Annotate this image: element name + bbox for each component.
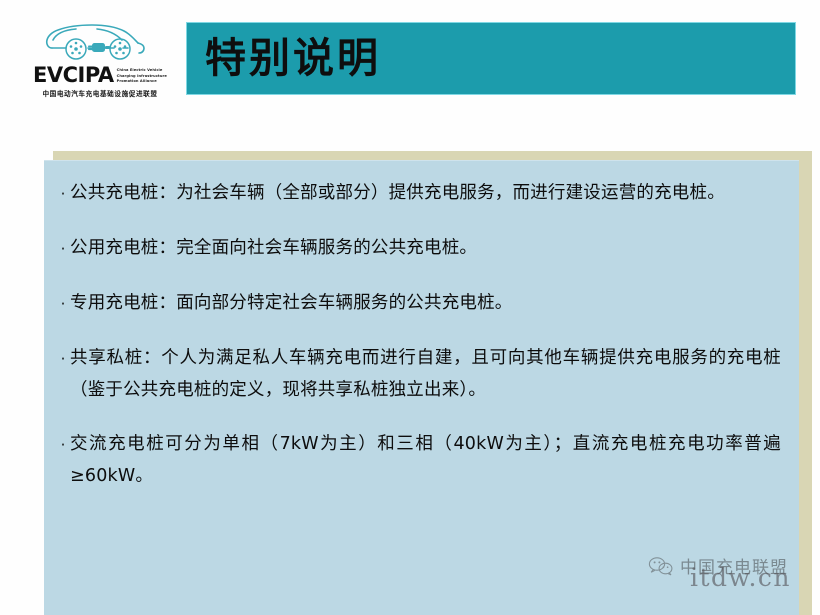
list-item: · 专用充电桩：面向部分特定社会车辆服务的公共充电桩。: [56, 287, 785, 320]
logo-english-tagline: China Electric Vehicle Charging Infrastr…: [117, 68, 167, 86]
bullet-text: 公共充电桩：为社会车辆（全部或部分）提供充电服务，而进行建设运营的充电桩。: [70, 177, 785, 209]
bullet-text: 共享私桩：个人为满足私人车辆充电而进行自建，且可向其他车辆提供充电服务的充电桩（…: [70, 342, 785, 406]
bullet-marker-icon: ·: [56, 178, 70, 210]
evcipa-logo: EVCIPA China Electric Vehicle Charging I…: [22, 18, 178, 98]
bullet-marker-icon: ·: [56, 288, 70, 320]
bullet-marker-icon: ·: [56, 343, 70, 375]
title-banner: 特别说明: [186, 22, 796, 95]
wechat-icon: [648, 556, 674, 576]
list-item: · 交流充电桩可分为单相（7kW为主）和三相（40kW为主）；直流充电桩充电功率…: [56, 428, 785, 492]
bullet-marker-icon: ·: [56, 233, 70, 265]
logo-wordmark: EVCIPA: [33, 65, 114, 86]
logo-wordmark-row: EVCIPA China Electric Vehicle Charging I…: [22, 65, 178, 86]
bullet-text: 交流充电桩可分为单相（7kW为主）和三相（40kW为主）；直流充电桩充电功率普遍…: [70, 428, 785, 492]
bullet-marker-icon: ·: [56, 429, 70, 461]
logo-english-line-3: Promotion Alliance: [117, 79, 167, 84]
slide-header: EVCIPA China Electric Vehicle Charging I…: [0, 0, 820, 128]
list-item: · 公用充电桩：完全面向社会车辆服务的公共充电桩。: [56, 232, 785, 265]
ev-charging-car-logo-icon: [22, 18, 178, 64]
bullet-text: 专用充电桩：面向部分特定社会车辆服务的公共充电桩。: [70, 287, 785, 319]
content-panel: · 公共充电桩：为社会车辆（全部或部分）提供充电服务，而进行建设运营的充电桩。 …: [44, 160, 799, 615]
site-watermark: itdw.cn: [690, 563, 791, 592]
bullet-text: 公用充电桩：完全面向社会车辆服务的公共充电桩。: [70, 232, 785, 264]
bullet-list: · 公共充电桩：为社会车辆（全部或部分）提供充电服务，而进行建设运营的充电桩。 …: [44, 161, 799, 492]
list-item: · 共享私桩：个人为满足私人车辆充电而进行自建，且可向其他车辆提供充电服务的充电…: [56, 342, 785, 406]
logo-english-line-1: China Electric Vehicle: [117, 68, 167, 73]
page-title: 特别说明: [205, 38, 381, 79]
logo-chinese-name: 中国电动汽车充电基础设施促进联盟: [22, 88, 178, 98]
list-item: · 公共充电桩：为社会车辆（全部或部分）提供充电服务，而进行建设运营的充电桩。: [56, 177, 785, 210]
